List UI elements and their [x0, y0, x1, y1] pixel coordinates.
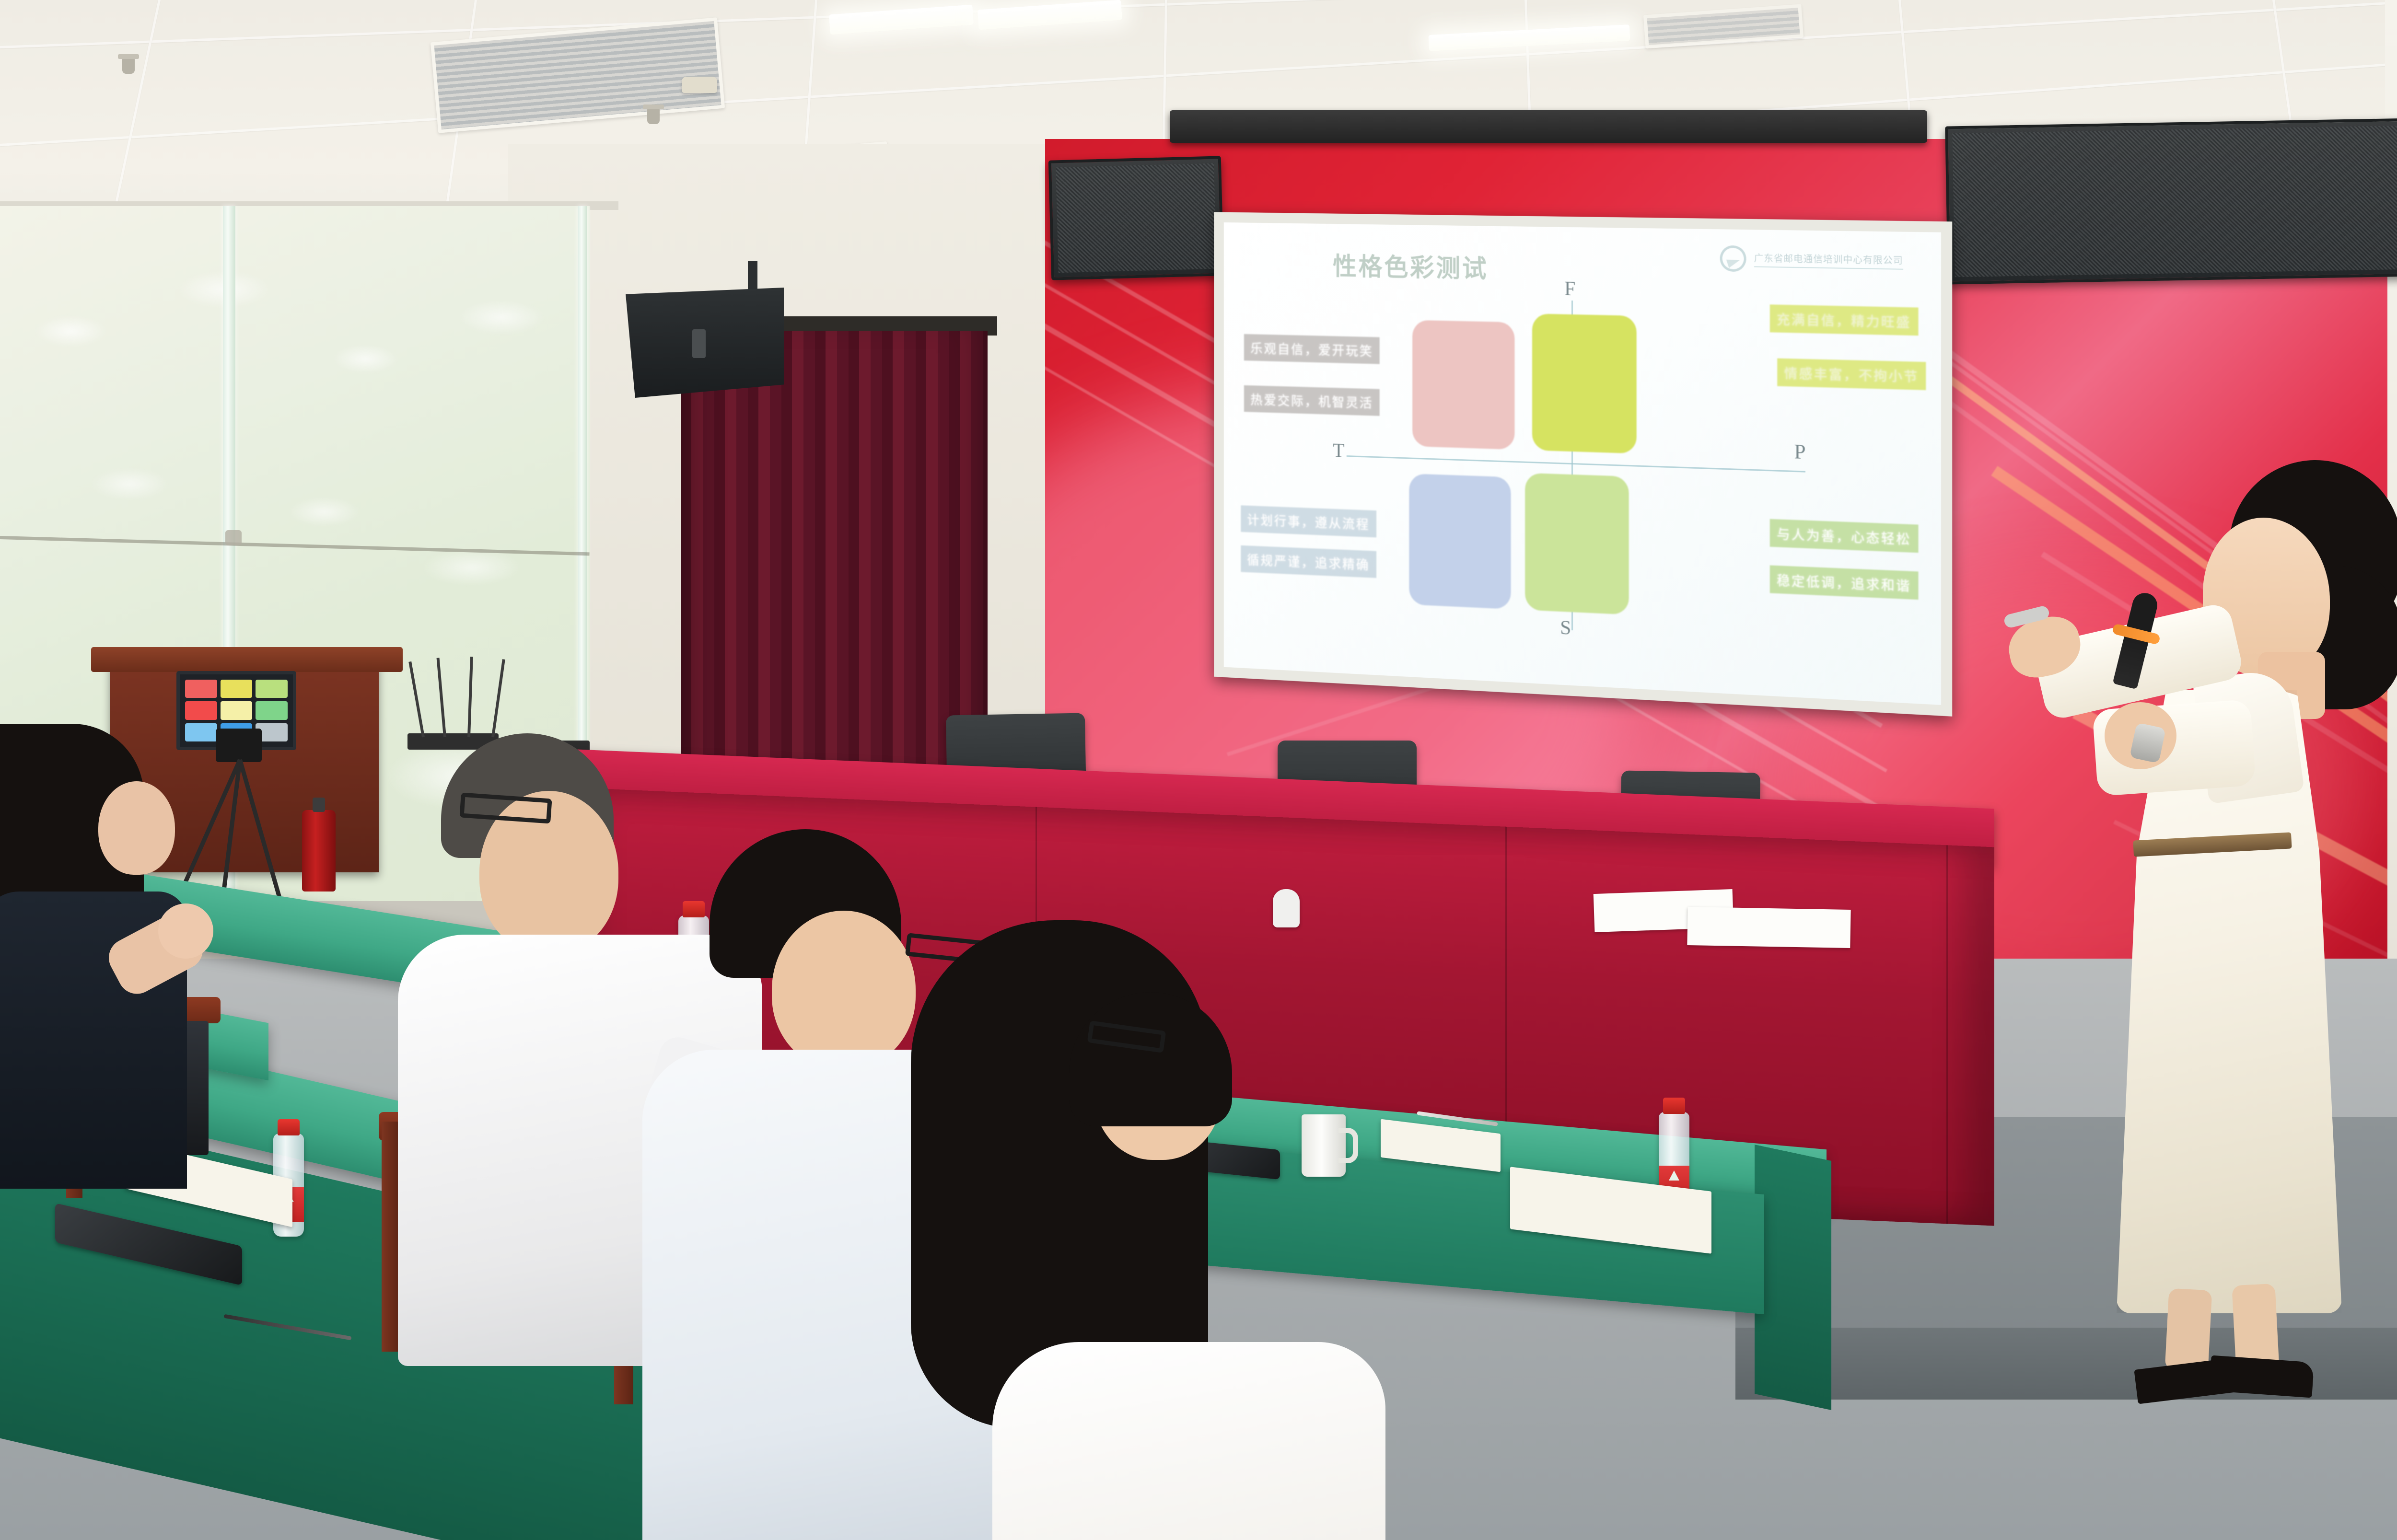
slide-surface: 性格色彩测试 广东省邮电通信培训中心有限公司 F S T P 乐观自信，爱开玩笑… — [1224, 222, 1941, 705]
company-logo: 广东省邮电通信培训中心有限公司 — [1720, 245, 1903, 275]
horizontal-axis — [1347, 455, 1805, 473]
fire-sprinkler-icon — [647, 108, 660, 124]
logo-text: 广东省邮电通信培训中心有限公司 — [1754, 251, 1903, 270]
meeting-room-scene: 性格色彩测试 广东省邮电通信培训中心有限公司 F S T P 乐观自信，爱开玩笑… — [0, 0, 2397, 1540]
coffee-mug[interactable] — [1302, 1114, 1346, 1177]
tag-red-1: 乐观自信，爱开玩笑 — [1244, 334, 1380, 364]
ceiling-speaker-icon — [626, 288, 784, 398]
tag-yellow-1: 充满自信，精力旺盛 — [1770, 304, 1919, 336]
presenter-leg — [2165, 1288, 2212, 1372]
tag-green-1: 与人为善，心态轻松 — [1770, 519, 1919, 552]
torso — [992, 1342, 1385, 1540]
projector-screen-case — [1170, 110, 1927, 143]
projection-screen: 性格色彩测试 广东省邮电通信培训中心有限公司 F S T P 乐观自信，爱开玩笑… — [1214, 212, 1952, 716]
logo-mark-icon — [1716, 243, 1749, 275]
window-clip-icon — [225, 530, 242, 545]
smoke-detector-icon — [682, 77, 717, 93]
slide-title: 性格色彩测试 — [1333, 246, 1488, 285]
paper-on-head-table — [1687, 907, 1850, 948]
audience-table-skirt — [1755, 1145, 1831, 1410]
tag-red-2: 热爱交际，机智灵活 — [1244, 385, 1380, 416]
quadrant-red — [1412, 320, 1514, 450]
fire-extinguisher-icon — [302, 810, 336, 892]
quadrant-green — [1525, 473, 1629, 615]
camera-tripod-head — [216, 729, 262, 762]
presenter-shoe — [2209, 1355, 2315, 1398]
hand — [158, 903, 213, 959]
quadrant-yellow — [1532, 313, 1636, 454]
head — [772, 911, 916, 1069]
tag-yellow-2: 情感丰富，不拘小节 — [1777, 358, 1926, 390]
quadrant-blue — [1409, 474, 1511, 609]
axis-label-t: T — [1333, 440, 1344, 463]
fire-sprinkler-icon — [122, 58, 135, 74]
podium-top-surface — [91, 647, 403, 672]
tag-blue-2: 循规严谨，追求精确 — [1241, 545, 1376, 578]
tag-green-2: 稳定低调，追求和谐 — [1770, 566, 1919, 600]
tag-blue-1: 计划行事，遵从流程 — [1241, 505, 1376, 537]
axis-label-f: F — [1564, 278, 1575, 301]
wall-speaker-icon — [1048, 156, 1224, 280]
axis-label-p: P — [1794, 440, 1806, 464]
axis-label-s: S — [1560, 616, 1571, 639]
wall-speaker-icon — [1945, 118, 2397, 284]
head — [98, 781, 175, 875]
table-mic-icon — [1273, 889, 1300, 927]
